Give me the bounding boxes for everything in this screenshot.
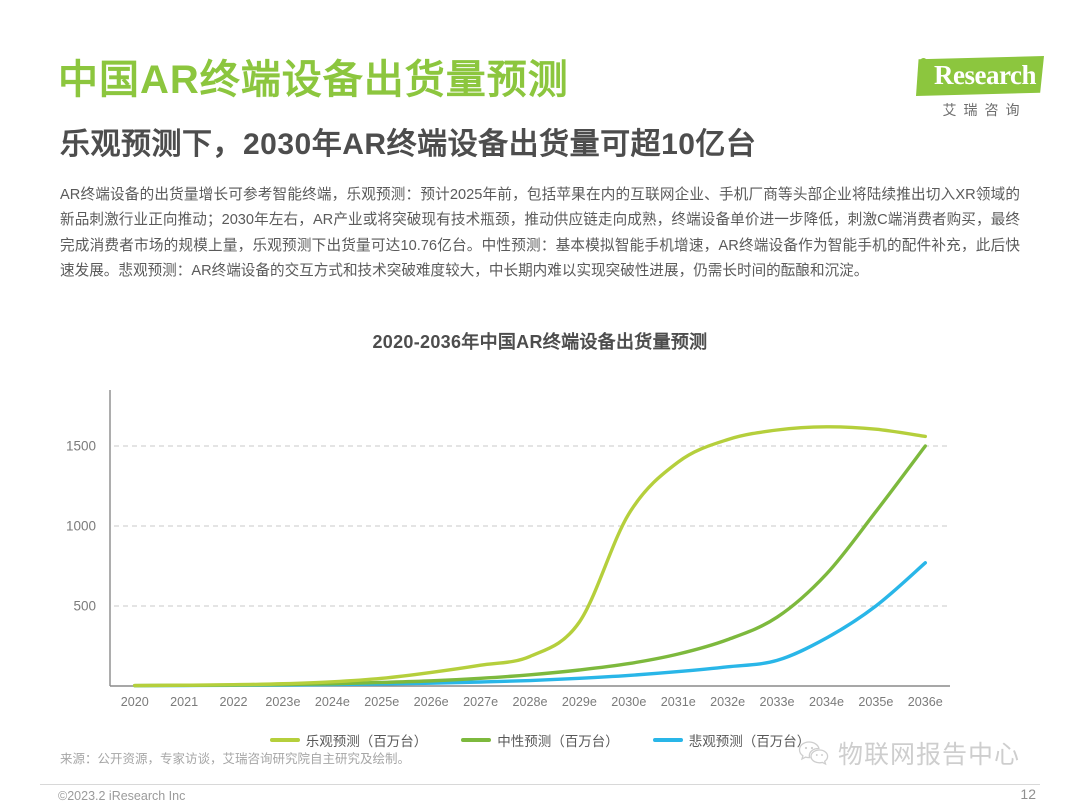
x-axis-tick: 2027e — [463, 695, 498, 709]
logo-i-stem-icon — [920, 68, 927, 93]
legend-swatch-icon — [270, 738, 300, 742]
chart-svg: 500100015002020202120222023e2024e2025e20… — [50, 380, 970, 710]
x-axis-tick: 2034e — [809, 695, 844, 709]
y-axis-tick: 1000 — [66, 519, 96, 534]
x-axis-tick: 2028e — [512, 695, 547, 709]
legend-item[interactable]: 悲观预测（百万台） — [653, 730, 811, 750]
chart-series-line — [135, 563, 926, 686]
logo-i-dot-icon — [920, 58, 927, 65]
x-axis-tick: 2035e — [858, 695, 893, 709]
x-axis-tick: 2031e — [661, 695, 696, 709]
body-paragraph: AR终端设备的出货量增长可参考智能终端，乐观预测：预计2025年前，包括苹果在内… — [60, 183, 1020, 285]
x-axis-tick: 2029e — [562, 695, 597, 709]
watermark-text: 物联网报告中心 — [838, 735, 1020, 771]
chart-title: 2020-2036年中国AR终端设备出货量预测 — [0, 328, 1080, 354]
x-axis-tick: 2025e — [364, 695, 399, 709]
legend-item[interactable]: 中性预测（百万台） — [461, 730, 619, 750]
copyright-text: ©2023.2 iResearch Inc — [58, 789, 185, 803]
page-title: 中国AR终端设备出货量预测 — [58, 58, 569, 102]
logo-badge: Research — [894, 54, 1044, 98]
x-axis-tick: 2021 — [170, 695, 198, 709]
line-chart: 500100015002020202120222023e2024e2025e20… — [50, 380, 970, 710]
source-note: 来源：公开资源，专家访谈，艾瑞咨询研究院自主研究及绘制。 — [60, 748, 410, 767]
slide-root: 中国AR终端设备出货量预测 乐观预测下，2030年AR终端设备出货量可超10亿台… — [0, 0, 1080, 810]
legend-swatch-icon — [461, 738, 491, 742]
wechat-icon — [798, 740, 830, 766]
x-axis-tick: 2030e — [611, 695, 646, 709]
x-axis-tick: 2022 — [220, 695, 248, 709]
logo-chinese-name: 艾瑞咨询 — [918, 100, 1044, 120]
watermark: 物联网报告中心 — [798, 735, 1020, 771]
iresearch-logo: Research 艾瑞咨询 — [894, 54, 1044, 126]
y-axis-tick: 500 — [73, 599, 96, 614]
footer-divider — [40, 784, 1040, 785]
legend-item[interactable]: 乐观预测（百万台） — [270, 730, 428, 750]
x-axis-tick: 2024e — [315, 695, 350, 709]
x-axis-tick: 2020 — [121, 695, 149, 709]
x-axis-tick: 2036e — [908, 695, 943, 709]
legend-label: 中性预测（百万台） — [497, 730, 619, 750]
x-axis-tick: 2026e — [414, 695, 449, 709]
logo-wordmark: Research — [934, 60, 1036, 91]
page-subtitle: 乐观预测下，2030年AR终端设备出货量可超10亿台 — [60, 128, 756, 161]
y-axis-tick: 1500 — [66, 439, 96, 454]
legend-label: 悲观预测（百万台） — [689, 730, 811, 750]
legend-label: 乐观预测（百万台） — [306, 730, 428, 750]
x-axis-tick: 2033e — [760, 695, 795, 709]
x-axis-tick: 2023e — [265, 695, 300, 709]
legend-swatch-icon — [653, 738, 683, 742]
x-axis-tick: 2032e — [710, 695, 745, 709]
page-number: 12 — [1020, 786, 1036, 802]
